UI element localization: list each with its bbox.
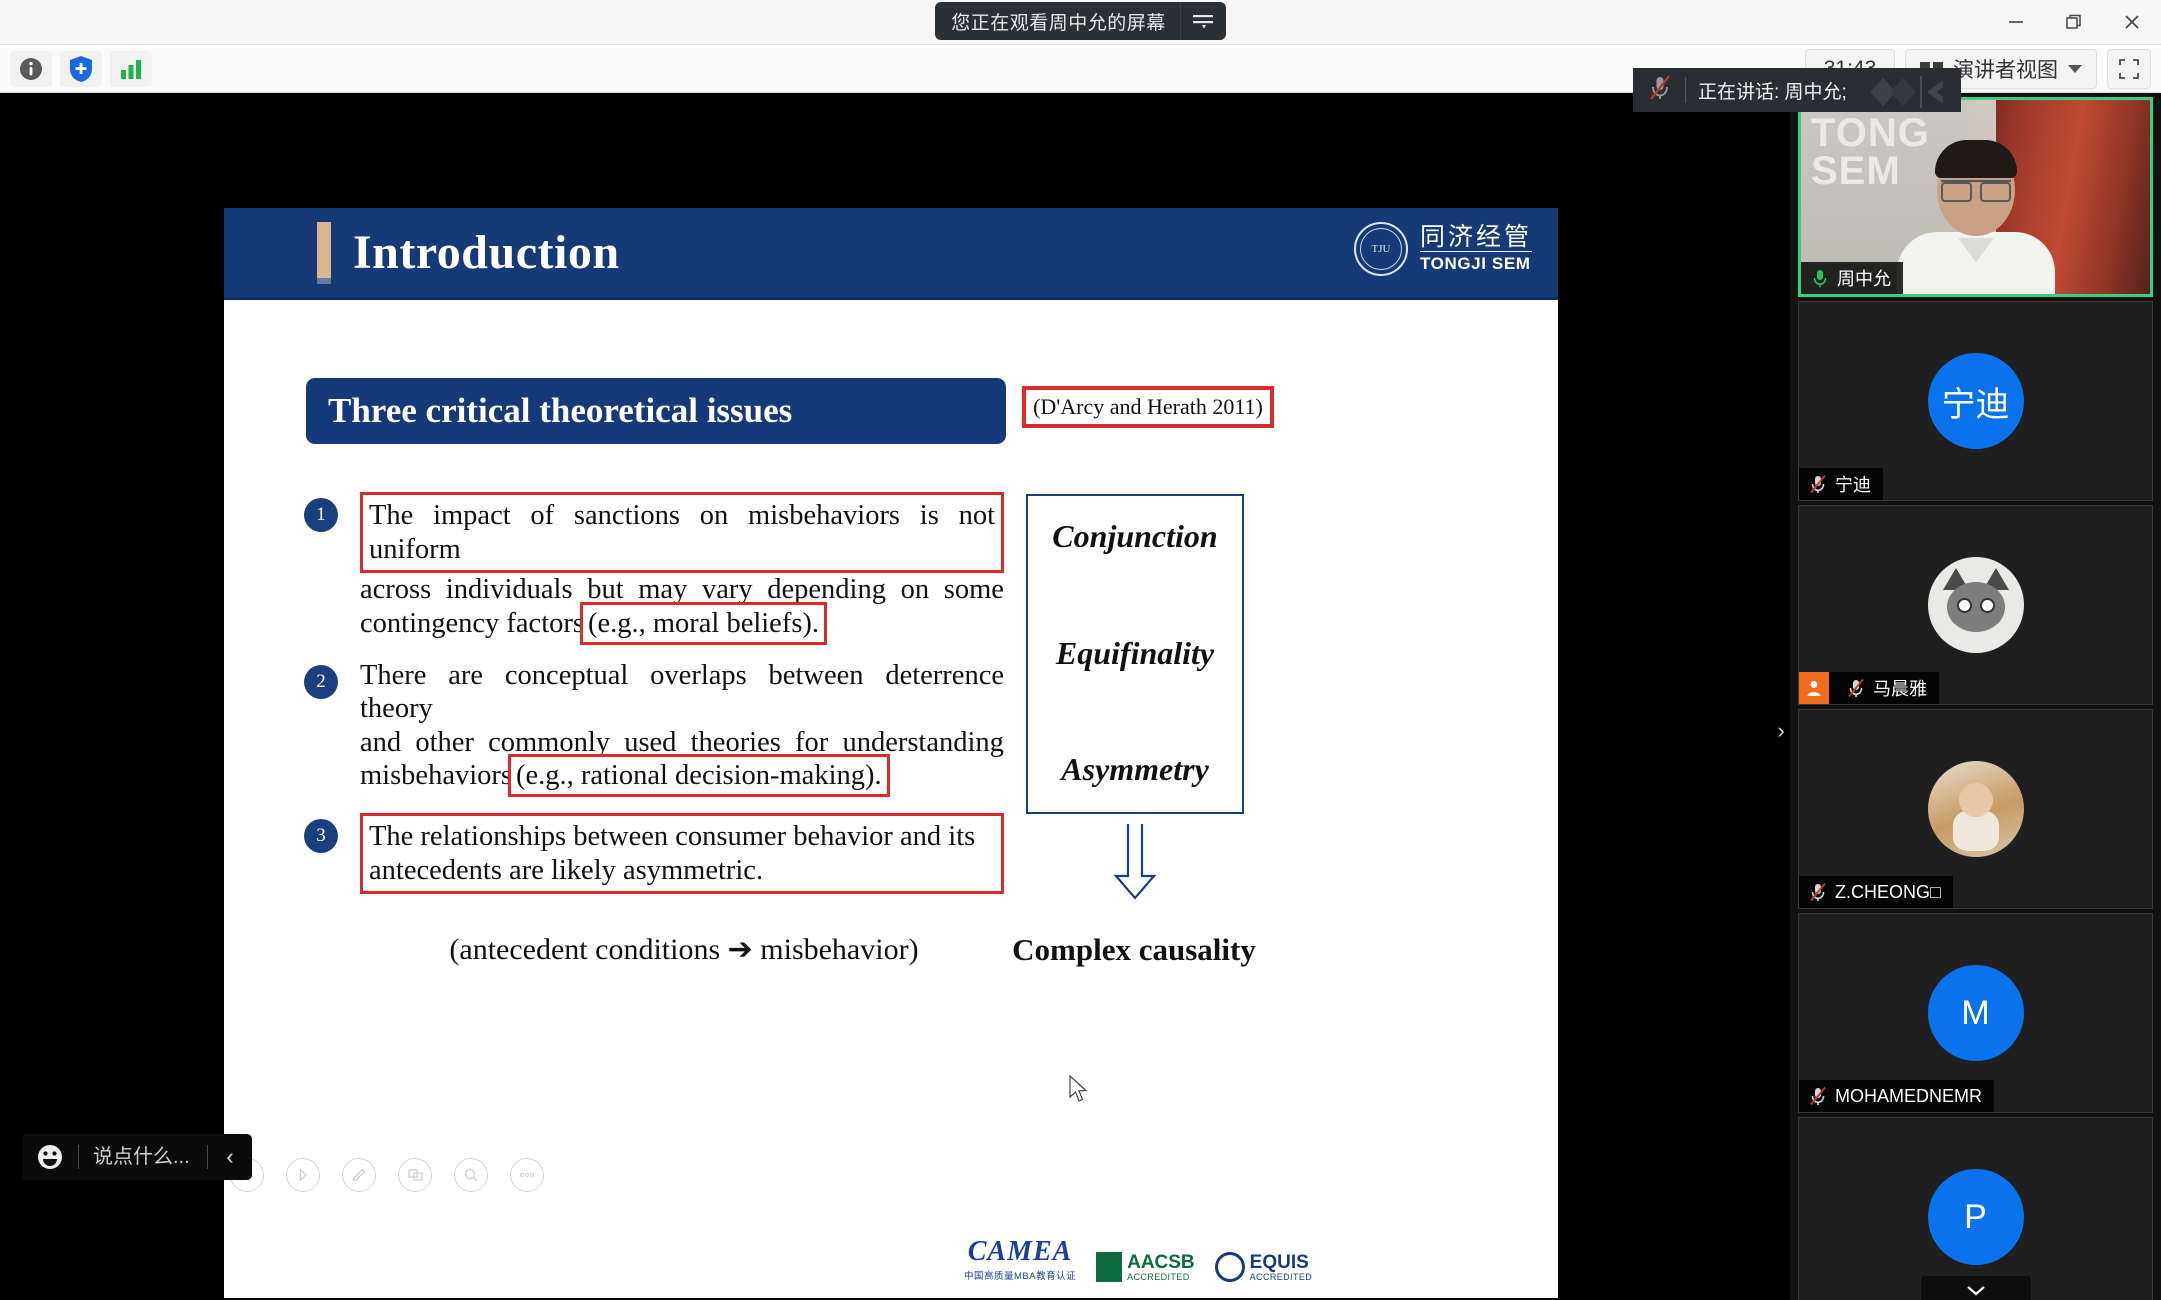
word: commonly: [488, 726, 610, 760]
overlay-divider: [1685, 77, 1686, 103]
more-options-icon[interactable]: [510, 1158, 544, 1192]
word: theories: [691, 726, 781, 760]
cat-eye-right: [1980, 598, 1995, 613]
participant-name: 宁迪: [1835, 471, 1871, 497]
point-item: 1 The impact of sanctions on misbehavior…: [304, 492, 1004, 641]
scroll-down-button[interactable]: [1921, 1276, 2031, 1300]
pen-icon[interactable]: [342, 1158, 376, 1192]
point-text-highlighted: The relationships between consumer behav…: [360, 813, 1004, 894]
logo-text: 同济经管 TONGJI SEM: [1420, 224, 1532, 273]
participant-namebar: 周中允: [1801, 262, 1903, 294]
camea-subtitle: 中国高质量MBA教育认证: [964, 1268, 1076, 1282]
tongji-seal-inner: TJU: [1360, 228, 1402, 270]
fullscreen-button[interactable]: [2107, 49, 2151, 89]
ppt-navigation-bar: [230, 1158, 544, 1192]
aacsb-name: AACSB: [1127, 1253, 1195, 1272]
speaking-label: 正在讲话: 周中允;: [1698, 77, 1847, 104]
point-line-justified: across individuals but may vary dependin…: [360, 573, 1004, 607]
speaker-collar: [1958, 238, 1994, 262]
signal-bars-icon[interactable]: [110, 51, 152, 87]
mic-muted-icon: [1809, 882, 1827, 902]
slide-title: Introduction: [353, 225, 620, 280]
baby-photo-body: [1953, 811, 1999, 851]
antecedent-note: (antecedent conditions ➔ misbehavior): [404, 932, 964, 967]
speaker-hair: [1935, 140, 2017, 178]
close-button[interactable]: [2103, 0, 2161, 44]
avatar: [1928, 761, 2024, 857]
concepts-box: Conjunction Equifinality Asymmetry: [1026, 494, 1244, 814]
equis-mark-icon: [1215, 1252, 1245, 1282]
mic-muted-icon: [1647, 74, 1673, 107]
slide-accent-bar: [317, 222, 331, 284]
accreditation-logos: CAMEA 中国高质量MBA教育认证 AACSB ACCREDITED EQUI…: [964, 1236, 1312, 1282]
camea-logo: CAMEA 中国高质量MBA教育认证: [964, 1236, 1076, 1282]
mic-muted-icon: [1809, 474, 1827, 494]
concept-equifinality: Equifinality: [1056, 635, 1214, 672]
slide-body: Three critical theoretical issues (D'Arc…: [224, 300, 1558, 1298]
point-line-plain: misbehaviors: [360, 760, 512, 791]
mic-muted-icon: [1809, 1086, 1827, 1106]
issues-banner-text: Three critical theoretical issues: [328, 391, 792, 431]
point-line-mixed: contingency factors(e.g., moral beliefs)…: [360, 607, 1004, 641]
minimize-button[interactable]: [1987, 0, 2045, 44]
issues-banner: Three critical theoretical issues: [306, 378, 1006, 444]
participant-tile[interactable]: 马晨雅: [1798, 505, 2153, 705]
next-slide-icon[interactable]: [286, 1158, 320, 1192]
point-item: 3 The relationships between consumer beh…: [304, 813, 1004, 894]
hamburger-menu-icon[interactable]: [1180, 2, 1226, 40]
bullet-number: 2: [304, 665, 338, 699]
mic-muted-icon: [1847, 678, 1865, 698]
citation-box: (D'Arcy and Herath 2011): [1022, 386, 1274, 428]
cat-eye-left: [1957, 598, 1972, 613]
word: for: [795, 726, 828, 760]
chat-bar: ‹: [22, 1134, 252, 1180]
cat-avatar-icon: [1941, 570, 2011, 640]
chevron-right-icon[interactable]: ›: [1772, 703, 1790, 759]
word: used: [624, 726, 676, 760]
points-list: 1 The impact of sanctions on misbehavior…: [304, 492, 1004, 906]
point-inline-highlight: (e.g., moral beliefs).: [584, 606, 823, 641]
avatar: P: [1928, 1169, 2024, 1265]
point-text: The impact of sanctions on misbehaviors …: [360, 492, 1004, 641]
word: other: [415, 726, 474, 760]
chat-input[interactable]: [79, 1146, 207, 1169]
word: on: [901, 573, 930, 607]
word: depending: [767, 573, 886, 607]
view-mode-label: 演讲者视图: [1953, 54, 2058, 84]
concept-conjunction: Conjunction: [1052, 518, 1217, 555]
window-controls: [1987, 0, 2161, 44]
presentation-slide: Introduction TJU 同济经管 TONGJI SEM Three c…: [224, 208, 1558, 1298]
down-arrow-icon: [1108, 824, 1162, 909]
university-logo: TJU 同济经管 TONGJI SEM: [1354, 222, 1532, 276]
participant-tile[interactable]: Z.CHEONG□: [1798, 709, 2153, 909]
slide-thumbnails-icon[interactable]: [398, 1158, 432, 1192]
window-titlebar: 您正在观看周中允的屏幕: [0, 0, 2161, 45]
screen-share-label: 您正在观看周中允的屏幕: [951, 8, 1180, 35]
point-line: The relationships between consumer behav…: [369, 820, 995, 854]
point-inline-highlight: (e.g., rational decision-making).: [512, 758, 886, 793]
speaker-glasses: [1941, 180, 2011, 196]
word: and: [360, 726, 401, 760]
word: individuals: [446, 573, 573, 607]
logo-chinese: 同济经管: [1420, 224, 1532, 250]
point-line-mixed: misbehaviors(e.g., rational decision-mak…: [360, 759, 1004, 793]
word: understanding: [842, 726, 1003, 760]
bullet-number: 1: [304, 498, 338, 532]
shared-screen-stage: Introduction TJU 同济经管 TONGJI SEM Three c…: [0, 93, 1790, 1208]
word: but: [587, 573, 623, 607]
screen-share-banner: 您正在观看周中允的屏幕: [935, 2, 1226, 40]
point-line-plain: contingency factors: [360, 608, 584, 639]
word: some: [944, 573, 1004, 607]
participant-name: 马晨雅: [1873, 675, 1927, 701]
participant-panel[interactable]: TONG SEM 周中允 宁迪: [1790, 93, 2161, 1300]
mouse-cursor-icon: [1068, 1075, 1090, 1110]
point-line-justified: and other commonly used theories for und…: [360, 726, 1004, 760]
shield-plus-icon[interactable]: [60, 51, 102, 87]
point-text: There are conceptual overlaps between de…: [360, 659, 1004, 794]
equis-logo: EQUIS ACCREDITED: [1215, 1252, 1313, 1282]
host-badge-icon: [1799, 672, 1829, 704]
participant-tile[interactable]: TONG SEM 周中允: [1798, 97, 2153, 297]
bullet-number: 3: [304, 819, 338, 853]
speaker-figure: [1896, 144, 2056, 294]
emoji-icon[interactable]: [22, 1134, 78, 1180]
participant-namebar: Z.CHEONG□: [1799, 876, 1953, 908]
avatar: [1928, 557, 2024, 653]
point-item: 2 There are conceptual overlaps between …: [304, 659, 1004, 794]
point-line: antecedents are likely asymmetric.: [369, 854, 995, 888]
overlay-decoration: [1865, 72, 1955, 112]
complex-causality-label: Complex causality: [994, 932, 1274, 968]
participant-namebar: MOHAMEDNEMR: [1799, 1080, 1994, 1112]
participant-namebar: 马晨雅: [1799, 672, 1939, 704]
point-line: There are conceptual overlaps between de…: [360, 659, 1004, 726]
participant-name: MOHAMEDNEMR: [1835, 1086, 1982, 1107]
camea-name: CAMEA: [964, 1236, 1076, 1268]
cat-head: [1947, 582, 2005, 632]
baby-photo-head: [1959, 783, 1993, 817]
slide-header: Introduction TJU 同济经管 TONGJI SEM: [224, 208, 1558, 300]
participant-tile[interactable]: P: [1798, 1117, 2153, 1300]
participant-name: Z.CHEONG□: [1835, 882, 1941, 903]
restore-button[interactable]: [2045, 0, 2103, 44]
participant-namebar: 宁迪: [1799, 468, 1883, 500]
equis-name: EQUIS: [1250, 1253, 1313, 1272]
aacsb-subtitle: ACCREDITED: [1127, 1272, 1195, 1282]
active-speaker-overlay: 正在讲话: 周中允;: [1633, 68, 1961, 112]
mic-active-icon: [1811, 268, 1829, 288]
chevron-down-icon: [2068, 65, 2082, 73]
participant-name: 周中允: [1837, 265, 1891, 291]
participant-tile[interactable]: M MOHAMEDNEMR: [1798, 913, 2153, 1113]
zoom-icon[interactable]: [454, 1158, 488, 1192]
participant-tile[interactable]: 宁迪 宁迪: [1798, 301, 2153, 501]
word: across: [360, 573, 431, 607]
word: may: [638, 573, 687, 607]
point-line-highlighted: The impact of sanctions on misbehaviors …: [360, 492, 1004, 573]
info-icon[interactable]: [10, 51, 52, 87]
logo-english: TONGJI SEM: [1420, 251, 1532, 274]
concept-asymmetry: Asymmetry: [1061, 751, 1209, 788]
avatar: M: [1928, 965, 2024, 1061]
chevron-left-icon[interactable]: ‹: [208, 1134, 252, 1180]
tongji-seal-icon: TJU: [1354, 222, 1408, 276]
aacsb-logo: AACSB ACCREDITED: [1096, 1252, 1195, 1282]
avatar: 宁迪: [1928, 353, 2024, 449]
word: vary: [702, 573, 753, 607]
equis-subtitle: ACCREDITED: [1250, 1272, 1313, 1282]
aacsb-mark-icon: [1096, 1252, 1122, 1282]
